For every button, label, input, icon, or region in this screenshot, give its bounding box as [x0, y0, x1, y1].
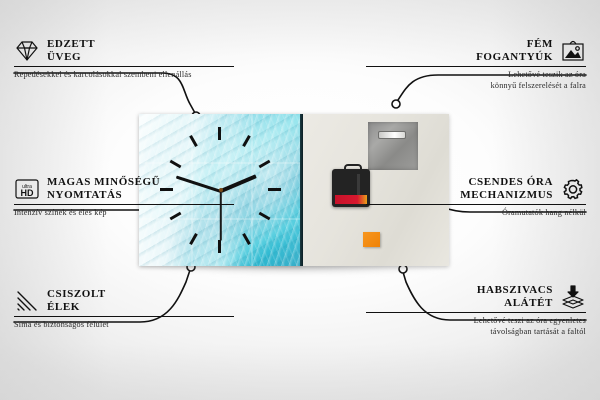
callout-title-line2: FOGANTYÚK — [476, 51, 553, 63]
callout-rule — [14, 316, 234, 317]
callout-description-line1: Lehetővé teszik az óra — [508, 70, 586, 79]
callout-title-line2: MECHANIZMUS — [460, 189, 553, 201]
callout-rule — [14, 66, 234, 67]
callout-description-line2: könnyű felszerelését a falra — [491, 81, 586, 90]
callout-title-line1: CSISZOLT — [47, 288, 106, 300]
hanger-slot — [378, 131, 406, 139]
infographic-canvas: EDZETT ÜVEG Repedésekkel és karcolásokka… — [0, 0, 600, 400]
hour-tick — [268, 188, 281, 191]
diamond-icon — [14, 39, 40, 63]
gear-icon — [560, 177, 586, 201]
callout-tempered-glass: EDZETT ÜVEG Repedésekkel és karcolásokka… — [14, 38, 234, 81]
svg-text:HD: HD — [21, 188, 34, 198]
callout-title-line2: ALÁTÉT — [504, 297, 553, 309]
beveled-edge-icon — [14, 289, 40, 313]
callout-metal-handles: FÉM FOGANTYÚK Lehetővé teszik az óra kön… — [366, 38, 586, 91]
callout-title-line1: HABSZIVACS — [477, 284, 553, 296]
callout-title-line2: ÉLEK — [47, 301, 80, 313]
foam-pad-arrow-icon — [560, 285, 586, 309]
picture-frame-hanger-icon — [560, 39, 586, 63]
callout-rule — [366, 66, 586, 67]
callout-description-line2: távolságban tartását a faltól — [490, 327, 586, 336]
callout-polished-edges: CSISZOLT ÉLEK Sima és biztonságos felüle… — [14, 288, 234, 331]
foam-pad — [363, 232, 380, 247]
callout-title-line1: CSENDES ÓRA — [468, 176, 553, 188]
callout-silent-mechanism: CSENDES ÓRA MECHANIZMUS Óramutatók hang … — [366, 176, 586, 219]
callout-rule — [14, 204, 234, 205]
hour-tick — [218, 127, 221, 140]
callout-description-line1: Lehetővé teszi az óra egyenletes — [474, 316, 586, 325]
callout-description: Intenzív színek és éles kép — [14, 208, 234, 219]
callout-high-quality-print: ultra HD MAGAS MINŐSÉGŰ NYOMTATÁS Intenz… — [14, 176, 234, 219]
callout-title-line1: FÉM — [527, 38, 553, 50]
callout-title-line2: ÜVEG — [47, 51, 81, 63]
callout-title-line1: EDZETT — [47, 38, 95, 50]
callout-title-line2: NYOMTATÁS — [47, 189, 122, 201]
mechanism-battery-label — [335, 195, 367, 204]
mechanism-hanger-tab — [344, 164, 362, 173]
callout-description: Óramutatók hang nélkül — [366, 208, 586, 219]
callout-title-line1: MAGAS MINŐSÉGŰ — [47, 176, 160, 188]
callout-description: Sima és biztonságos felület — [14, 320, 234, 331]
callout-foam-pad: HABSZIVACS ALÁTÉT Lehetővé teszi az óra … — [366, 284, 586, 337]
metal-hanger-plate — [368, 122, 418, 170]
hour-tick — [218, 240, 221, 253]
quartz-clock-mechanism — [332, 169, 370, 207]
callout-rule — [366, 312, 586, 313]
callout-rule — [366, 204, 586, 205]
ultra-hd-badge-icon: ultra HD — [14, 177, 40, 201]
connector-dot-metal-handles — [392, 100, 400, 108]
callout-description: Repedésekkel és karcolásokkal szembeni e… — [14, 70, 234, 81]
mechanism-detail — [357, 174, 360, 196]
